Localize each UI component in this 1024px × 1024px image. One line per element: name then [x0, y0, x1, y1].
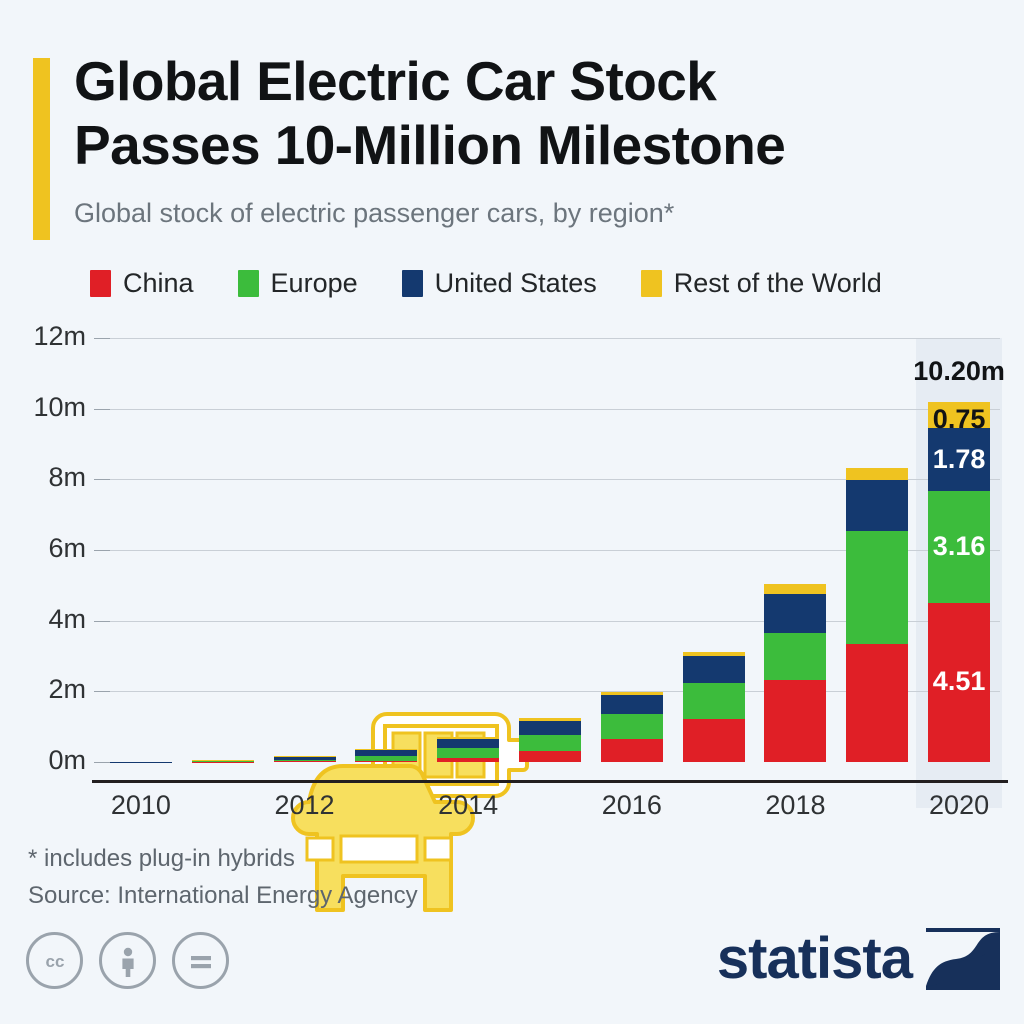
y-axis-tick [94, 691, 110, 692]
legend-swatch-united-states [402, 270, 423, 297]
bar-2012[interactable] [274, 756, 336, 762]
x-axis-label-2016: 2016 [572, 790, 692, 821]
y-axis-label-6m: 6m [0, 533, 86, 564]
bar-segment-2020-europe[interactable]: 3.16 [928, 491, 990, 603]
bar-segment-2019-china[interactable] [846, 644, 908, 762]
y-axis-tick [94, 479, 110, 480]
y-axis-tick [94, 338, 110, 339]
title-line-2: Passes 10-Million Milestone [74, 114, 974, 178]
bar-value-label-2020-china: 4.51 [928, 668, 990, 695]
bar-segment-2017-rest-of-the-world[interactable] [683, 652, 745, 657]
chart-legend: China Europe United States Rest of the W… [90, 268, 926, 299]
bar-segment-2020-rest-of-the-world[interactable]: 0.75 [928, 402, 990, 429]
title-accent-bar [33, 58, 50, 240]
statista-logo[interactable]: statista [717, 928, 1000, 990]
bar-value-label-2020-united-states: 1.78 [928, 446, 990, 473]
svg-text:cc: cc [45, 952, 64, 971]
statista-s-mark [926, 928, 1000, 990]
bar-segment-2014-china[interactable] [437, 758, 499, 762]
gridline-12m [100, 338, 1000, 339]
bar-segment-2014-united-states[interactable] [437, 739, 499, 748]
bar-segment-2012-europe[interactable] [274, 760, 336, 762]
legend-label-europe: Europe [271, 268, 358, 299]
legend-label-rest-of-the-world: Rest of the World [674, 268, 882, 299]
bar-segment-2011-europe[interactable] [192, 761, 254, 762]
bar-2011[interactable] [192, 760, 254, 762]
bar-segment-2018-europe[interactable] [764, 633, 826, 680]
footnote: * includes plug-in hybrids [28, 845, 295, 873]
y-axis-tick [94, 409, 110, 410]
bar-segment-2013-united-states[interactable] [355, 750, 417, 756]
bar-segment-2016-europe[interactable] [601, 714, 663, 739]
y-axis-label-10m: 10m [0, 392, 86, 423]
plot-area: 4.513.161.780.7510.20m 20102012201420162… [100, 338, 1000, 762]
bar-2020[interactable]: 4.513.161.780.75 [928, 402, 990, 762]
bar-segment-2014-europe[interactable] [437, 748, 499, 758]
x-axis-label-2018: 2018 [735, 790, 855, 821]
source-note: Source: International Energy Agency [28, 882, 418, 910]
bar-value-label-2020-rest-of-the-world: 0.75 [928, 406, 990, 433]
bar-segment-2011-united-states[interactable] [192, 760, 254, 761]
bar-segment-2020-united-states[interactable]: 1.78 [928, 428, 990, 491]
legend-item-rest-of-the-world[interactable]: Rest of the World [641, 268, 882, 299]
legend-swatch-rest-of-the-world [641, 270, 662, 297]
bar-2015[interactable] [519, 718, 581, 762]
cc-by-person-icon[interactable] [99, 932, 156, 989]
bar-total-label-2020: 10.20m [879, 356, 1024, 387]
title-line-1: Global Electric Car Stock [74, 50, 974, 114]
bar-segment-2014-rest-of-the-world[interactable] [437, 737, 499, 739]
x-axis-label-2020: 2020 [899, 790, 1019, 821]
bar-2016[interactable] [601, 692, 663, 762]
bar-segment-2017-united-states[interactable] [683, 656, 745, 683]
bar-segment-2012-united-states[interactable] [274, 757, 336, 760]
y-axis-tick [94, 550, 110, 551]
page-title: Global Electric Car Stock Passes 10-Mill… [74, 50, 974, 178]
bar-value-label-2020-europe: 3.16 [928, 533, 990, 560]
bar-segment-2017-europe[interactable] [683, 683, 745, 718]
x-axis-label-2014: 2014 [408, 790, 528, 821]
gridline-10m [100, 409, 1000, 410]
legend-swatch-china [90, 270, 111, 297]
y-axis-label-0m: 0m [0, 745, 86, 776]
y-axis-label-2m: 2m [0, 674, 86, 705]
bar-segment-2016-china[interactable] [601, 739, 663, 762]
legend-label-united-states: United States [435, 268, 597, 299]
bar-segment-2018-rest-of-the-world[interactable] [764, 584, 826, 594]
bar-2018[interactable] [764, 584, 826, 762]
bar-segment-2012-china[interactable] [274, 761, 336, 762]
x-axis-label-2010: 2010 [81, 790, 201, 821]
bar-segment-2019-rest-of-the-world[interactable] [846, 468, 908, 480]
legend-label-china: China [123, 268, 194, 299]
y-axis-label-12m: 12m [0, 321, 86, 352]
bar-segment-2013-china[interactable] [355, 761, 417, 762]
y-axis-label-8m: 8m [0, 462, 86, 493]
bar-segment-2019-united-states[interactable] [846, 480, 908, 531]
bar-2014[interactable] [437, 737, 499, 762]
x-axis-label-2012: 2012 [245, 790, 365, 821]
bar-segment-2012-rest-of-the-world[interactable] [274, 756, 336, 757]
creative-commons-icons: cc [26, 932, 229, 989]
cc-icon[interactable]: cc [26, 932, 83, 989]
header: Global Electric Car Stock Passes 10-Mill… [0, 0, 1024, 250]
y-axis-label-4m: 4m [0, 604, 86, 635]
bar-2017[interactable] [683, 652, 745, 762]
bar-segment-2015-china[interactable] [519, 751, 581, 762]
bar-segment-2015-united-states[interactable] [519, 721, 581, 735]
bar-2019[interactable] [846, 468, 908, 762]
bar-2013[interactable] [355, 749, 417, 762]
bar-segment-2017-china[interactable] [683, 719, 745, 762]
legend-item-china[interactable]: China [90, 268, 194, 299]
bar-segment-2018-united-states[interactable] [764, 594, 826, 634]
legend-item-united-states[interactable]: United States [402, 268, 597, 299]
y-axis-tick [94, 762, 110, 763]
bar-segment-2020-china[interactable]: 4.51 [928, 603, 990, 762]
bar-segment-2015-europe[interactable] [519, 735, 581, 751]
y-axis-tick [94, 621, 110, 622]
legend-item-europe[interactable]: Europe [238, 268, 358, 299]
bar-segment-2013-rest-of-the-world[interactable] [355, 749, 417, 751]
statista-wordmark: statista [717, 930, 912, 988]
legend-swatch-europe [238, 270, 259, 297]
bar-segment-2015-rest-of-the-world[interactable] [519, 718, 581, 721]
cc-nd-equals-icon[interactable] [172, 932, 229, 989]
bar-segment-2016-rest-of-the-world[interactable] [601, 692, 663, 695]
bar-segment-2016-united-states[interactable] [601, 695, 663, 714]
stacked-bar-chart: 4.513.161.780.7510.20m 20102012201420162… [0, 320, 1024, 820]
bar-segment-2019-europe[interactable] [846, 531, 908, 643]
x-axis-line [92, 780, 1008, 783]
bar-segment-2013-europe[interactable] [355, 756, 417, 760]
bar-segment-2018-china[interactable] [764, 680, 826, 762]
page-subtitle: Global stock of electric passenger cars,… [74, 198, 974, 229]
